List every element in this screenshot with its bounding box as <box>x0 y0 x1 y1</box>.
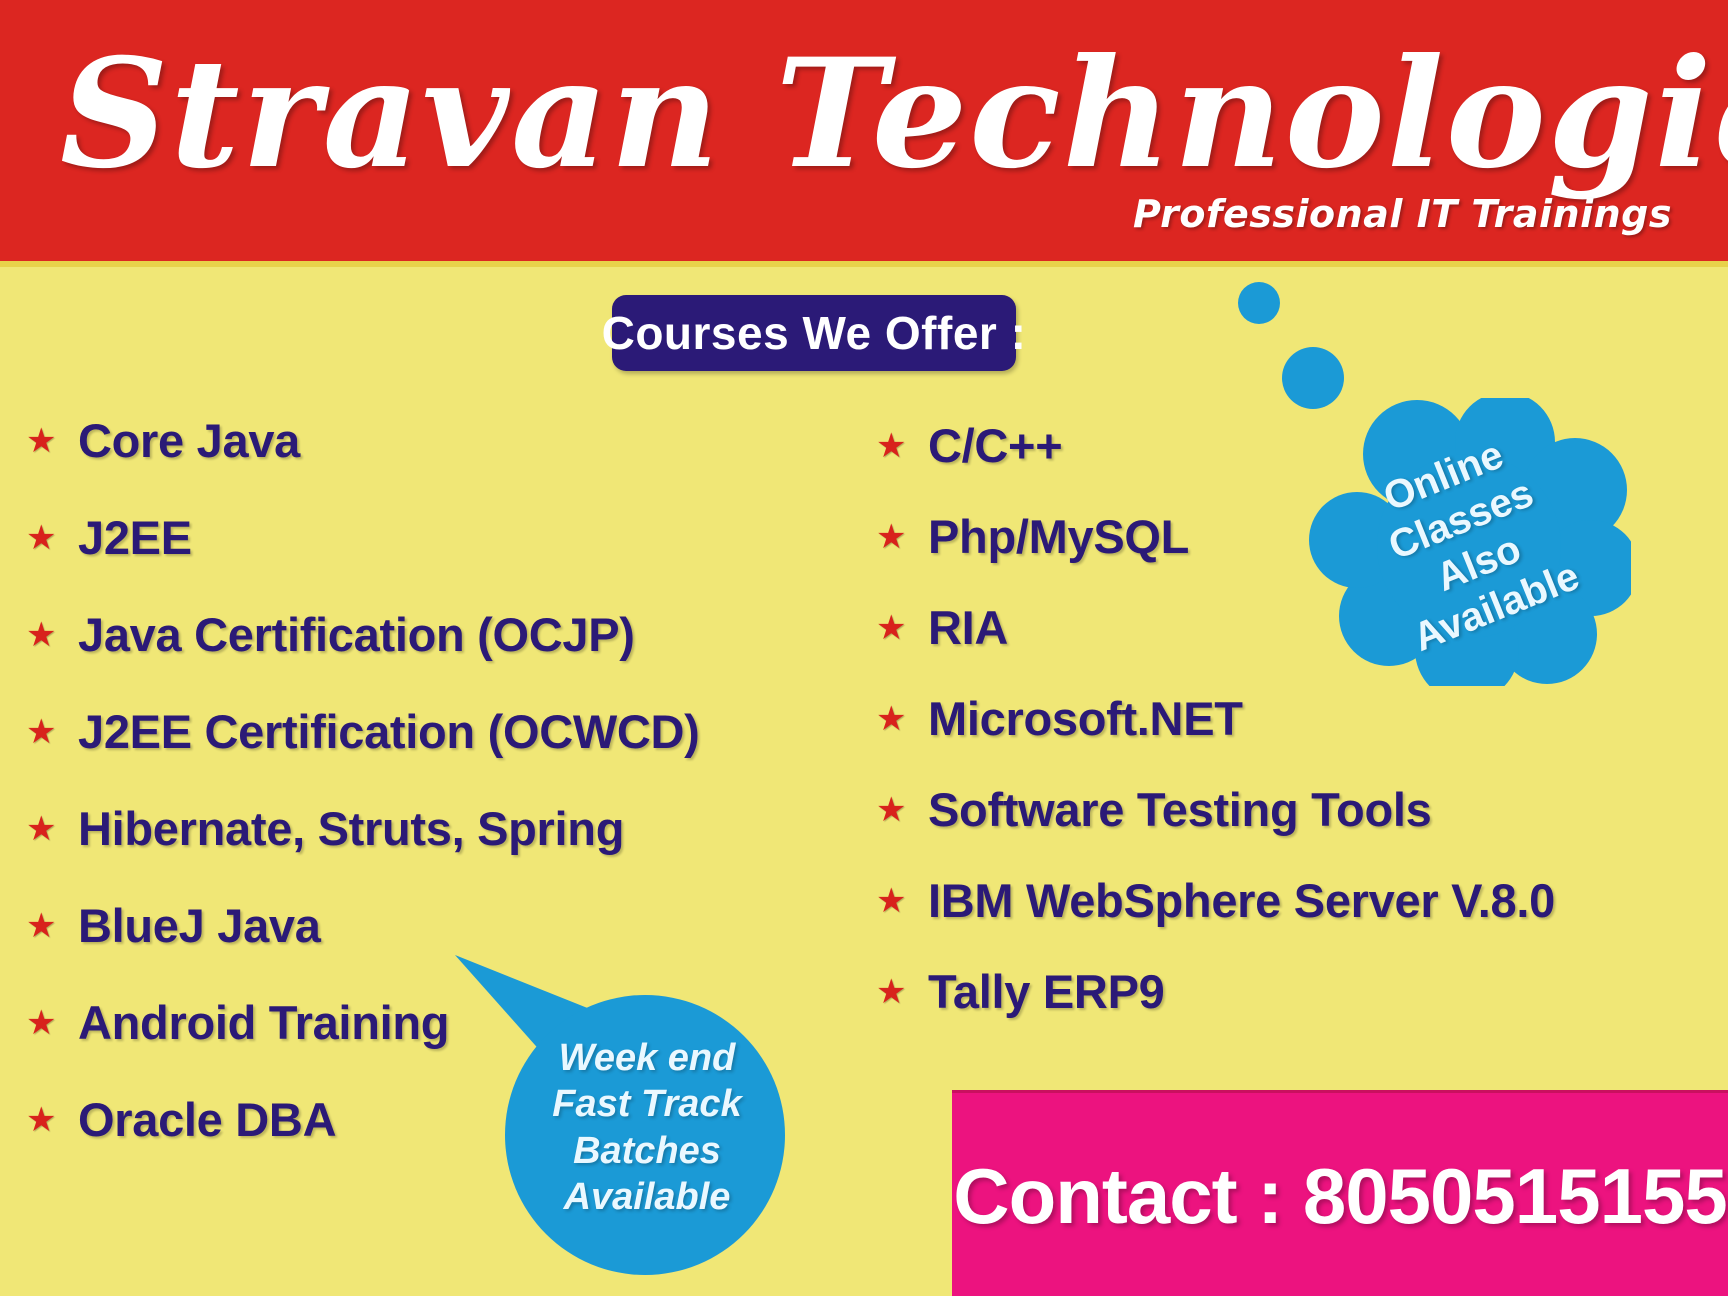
course-label: J2EE Certification (OCWCD) <box>78 704 700 759</box>
course-label: Core Java <box>78 413 300 468</box>
courses-we-offer-label: Courses We Offer : <box>602 306 1027 360</box>
speech-line-1: Week end <box>527 1035 767 1081</box>
course-label: IBM WebSphere Server V.8.0 <box>928 873 1555 928</box>
online-classes-cloud-badge: Online Classes Also Available <box>1309 398 1631 686</box>
speech-line-4: Available <box>527 1174 767 1220</box>
header-underline-divider <box>0 261 1728 267</box>
star-icon: ★ <box>876 611 928 645</box>
weekend-batches-text: Week end Fast Track Batches Available <box>527 1035 767 1220</box>
list-item: ★ Core Java <box>26 392 846 489</box>
speech-line-2: Fast Track <box>527 1081 767 1127</box>
star-icon: ★ <box>876 520 928 554</box>
course-label: BlueJ Java <box>78 898 321 953</box>
course-label: Hibernate, Struts, Spring <box>78 801 624 856</box>
list-item: ★ Java Certification (OCJP) <box>26 586 846 683</box>
list-item: ★ Tally ERP9 <box>876 946 1726 1037</box>
course-label: J2EE <box>78 510 192 565</box>
star-icon: ★ <box>876 975 928 1009</box>
list-item: ★ IBM WebSphere Server V.8.0 <box>876 855 1726 946</box>
courses-we-offer-badge: Courses We Offer : <box>612 295 1016 371</box>
star-icon: ★ <box>26 521 78 555</box>
star-icon: ★ <box>876 429 928 463</box>
course-label: Php/MySQL <box>928 509 1189 564</box>
course-label: Tally ERP9 <box>928 964 1164 1019</box>
star-icon: ★ <box>26 618 78 652</box>
star-icon: ★ <box>876 884 928 918</box>
star-icon: ★ <box>26 715 78 749</box>
star-icon: ★ <box>26 1103 78 1137</box>
course-label: Microsoft.NET <box>928 691 1243 746</box>
speech-line-3: Batches <box>527 1128 767 1174</box>
contact-bar: Contact : 8050515155 <box>952 1090 1728 1296</box>
brand-tagline: Professional IT Trainings <box>1133 192 1672 236</box>
list-item: ★ Software Testing Tools <box>876 764 1726 855</box>
contact-phone-text: Contact : 8050515155 <box>953 1151 1726 1242</box>
course-label: RIA <box>928 600 1008 655</box>
list-item: ★ J2EE <box>26 489 846 586</box>
brand-title: Stravan Technologies <box>60 14 1680 214</box>
poster-root: Stravan Technologies Professional IT Tra… <box>0 0 1728 1296</box>
course-label: Software Testing Tools <box>928 782 1431 837</box>
star-icon: ★ <box>26 909 78 943</box>
star-icon: ★ <box>876 702 928 736</box>
course-label: Oracle DBA <box>78 1092 336 1147</box>
weekend-batches-speech-bubble: Week end Fast Track Batches Available <box>455 955 785 1275</box>
list-item: ★ Hibernate, Struts, Spring <box>26 780 846 877</box>
star-icon: ★ <box>876 793 928 827</box>
course-label: Android Training <box>78 995 449 1050</box>
star-icon: ★ <box>26 812 78 846</box>
list-item: ★ Microsoft.NET <box>876 673 1726 764</box>
course-label: C/C++ <box>928 418 1062 473</box>
course-label: Java Certification (OCJP) <box>78 607 635 662</box>
star-icon: ★ <box>26 424 78 458</box>
list-item: ★ J2EE Certification (OCWCD) <box>26 683 846 780</box>
thought-bubble-small-icon <box>1238 282 1280 324</box>
star-icon: ★ <box>26 1006 78 1040</box>
